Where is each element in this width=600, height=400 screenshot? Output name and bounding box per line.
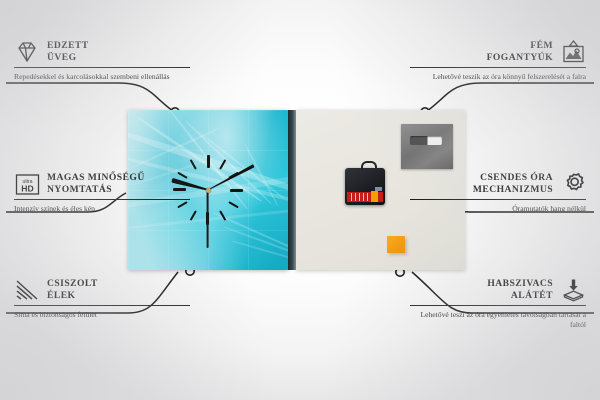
label-plus-mark: [371, 191, 378, 202]
second-hand: [207, 190, 209, 248]
callout-rule: [410, 305, 586, 306]
callout-csiszolt-elek[interactable]: CSISZOLT ÉLEK Sima és biztonságos felüle…: [14, 278, 190, 320]
callout-rule: [14, 67, 190, 68]
callout-rule: [410, 67, 586, 68]
callout-title: MAGAS MINŐSÉGŰ NYOMTATÁS: [47, 172, 145, 196]
callout-desc: Lehetővé teszik az óra könnyű felszerelé…: [410, 72, 586, 82]
callout-edzett-uveg[interactable]: EDZETT ÜVEG Repedésekkel és karcolásokka…: [14, 40, 190, 82]
callout-title: FÉM FOGANTYÚK: [487, 40, 553, 64]
hanger-slot: [410, 136, 442, 145]
clock-mechanism: [345, 168, 385, 205]
callout-desc: Sima és biztonságos felület: [14, 310, 190, 320]
callout-fem-fogantyuk[interactable]: FÉM FOGANTYÚK Lehetővé teszik az óra kön…: [410, 40, 586, 82]
callout-head: CSISZOLT ÉLEK: [14, 278, 190, 302]
picture-hanger-icon: [560, 40, 586, 64]
callout-magas-minosegu-nyomtatas[interactable]: ultra HD MAGAS MINŐSÉGŰ NYOMTATÁS Intenz…: [14, 172, 190, 214]
infographic-canvas: EDZETT ÜVEG Repedésekkel és karcolásokka…: [0, 0, 600, 400]
callout-head: CSENDES ÓRA MECHANIZMUS: [410, 172, 586, 196]
callout-csendes-ora-mechanizmus[interactable]: CSENDES ÓRA MECHANIZMUS Óramutatók hang …: [410, 172, 586, 214]
callout-rule: [14, 199, 190, 200]
leader-line-edzett-uveg: [6, 83, 173, 111]
leader-line-fem-fogantyuk: [427, 83, 594, 111]
ultra-hd-icon: ultra HD: [14, 172, 40, 196]
callout-rule: [410, 199, 586, 200]
svg-text:HD: HD: [21, 183, 33, 193]
gear-icon: [560, 172, 586, 196]
callout-title: CSISZOLT ÉLEK: [47, 278, 98, 302]
mechanism-label: [347, 192, 384, 202]
callout-title: CSENDES ÓRA MECHANIZMUS: [473, 172, 553, 196]
callout-desc: Lehetővé teszi az óra egyenletes távolsá…: [410, 310, 586, 330]
hand-cap: [206, 188, 211, 193]
callout-rule: [14, 305, 190, 306]
callout-title: HABSZIVACS ALÁTÉT: [487, 278, 553, 302]
diamond-icon: [14, 40, 40, 64]
polished-edges-icon: [14, 278, 40, 302]
callout-desc: Repedésekkel és karcolásokkal szembeni e…: [14, 72, 190, 82]
foam-pad: [387, 236, 405, 253]
callout-head: FÉM FOGANTYÚK: [410, 40, 586, 64]
foam-pad-icon: [560, 278, 586, 302]
callout-head: ultra HD MAGAS MINŐSÉGŰ NYOMTATÁS: [14, 172, 190, 196]
mechanism-bail: [361, 161, 377, 171]
callout-desc: Óramutatók hang nélkül: [410, 204, 586, 214]
callout-head: EDZETT ÜVEG: [14, 40, 190, 64]
callout-habszivacs-alatet[interactable]: HABSZIVACS ALÁTÉT Lehetővé teszi az óra …: [410, 278, 586, 330]
callout-head: HABSZIVACS ALÁTÉT: [410, 278, 586, 302]
callout-title: EDZETT ÜVEG: [47, 40, 89, 64]
glass-edge: [288, 110, 296, 270]
callout-desc: Intenzív színek és éles kép: [14, 204, 190, 214]
metal-hanger: [401, 124, 453, 169]
